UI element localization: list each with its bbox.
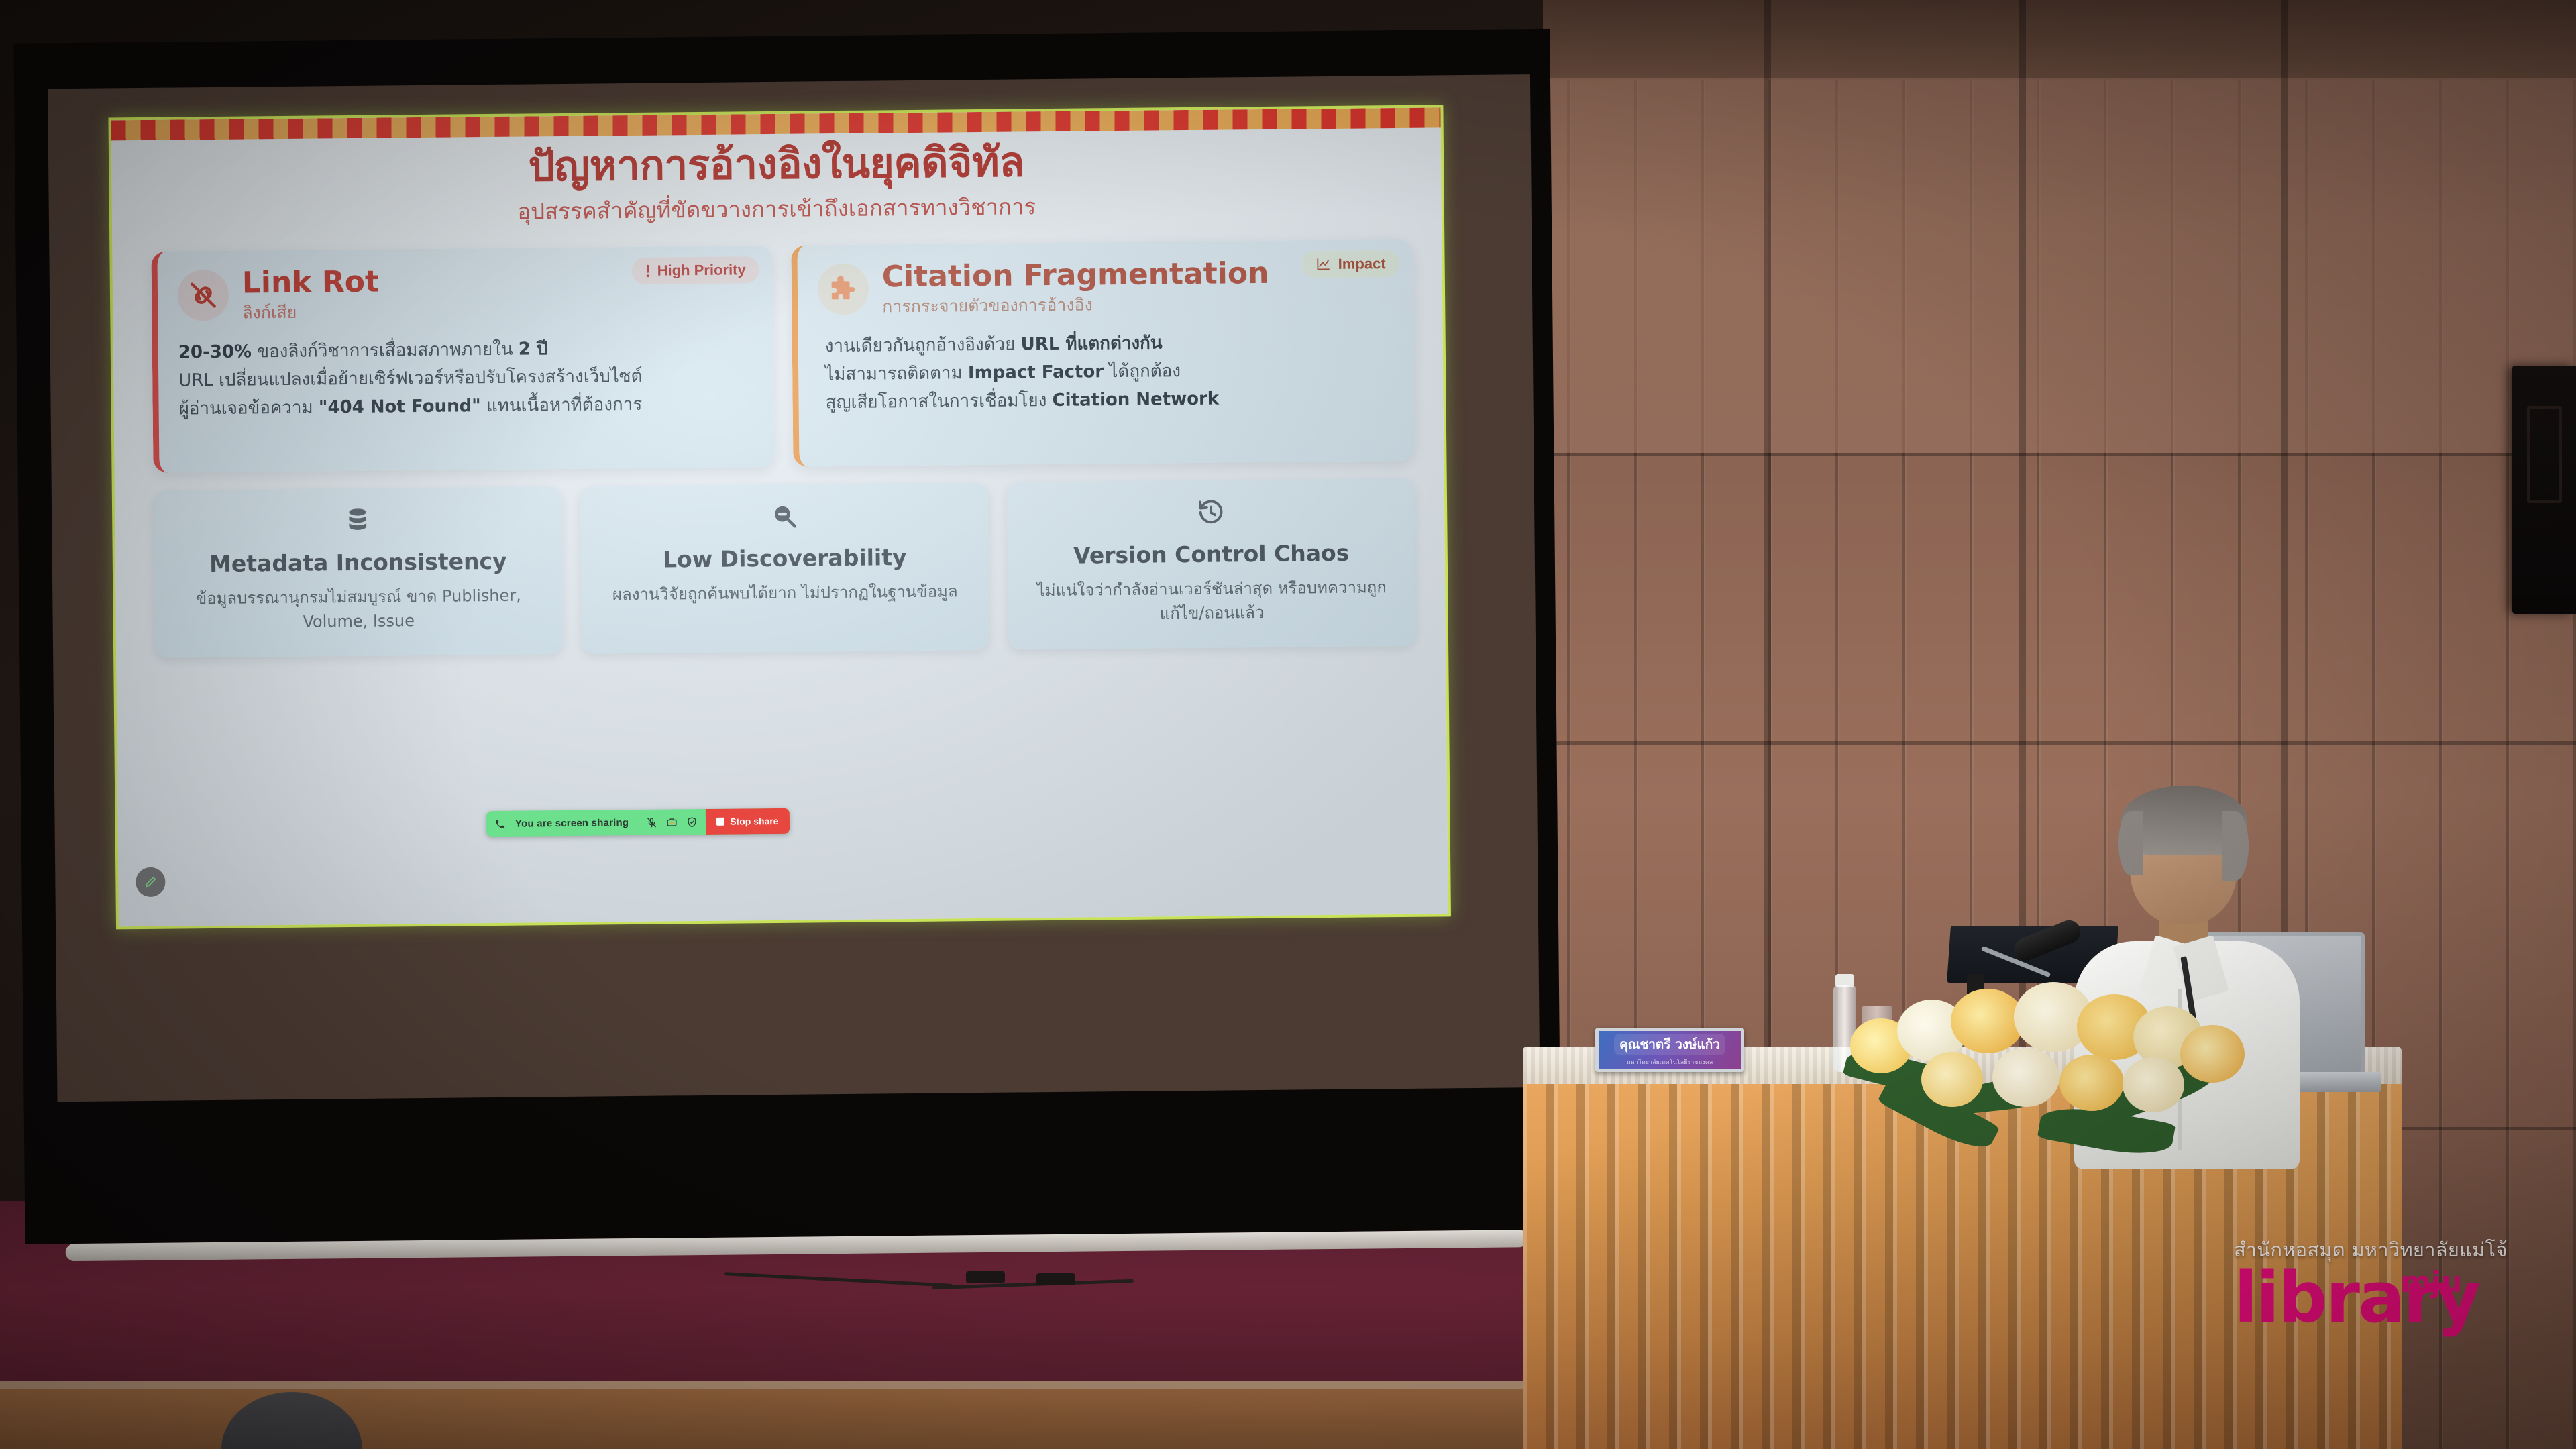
history-clock-icon bbox=[1196, 497, 1226, 530]
stop-share-button[interactable]: Stop share bbox=[706, 808, 790, 835]
body-text: ของลิงก์วิชาการเสื่อมสภาพภายใน bbox=[252, 339, 519, 362]
mic-muted-icon[interactable] bbox=[646, 816, 657, 828]
card-subtitle-thai: ลิงก์เสีย bbox=[242, 302, 379, 323]
wall-upper-tint bbox=[1503, 0, 2576, 80]
body-bold: Citation Network bbox=[1052, 389, 1219, 411]
status-badge-high-priority: High Priority bbox=[631, 256, 759, 284]
card-citation-fragmentation[interactable]: Impact Citation Fragmentation การกระจายต… bbox=[791, 239, 1414, 467]
card-heading-text: Citation Fragmentation การกระจายตัวของกา… bbox=[882, 258, 1269, 317]
stop-share-label: Stop share bbox=[730, 816, 779, 827]
body-text: งานเดียวกันถูกอ้างอิงด้วย bbox=[825, 335, 1021, 357]
floor-cable-connector bbox=[1036, 1273, 1075, 1285]
wall-mounted-display bbox=[2512, 366, 2576, 614]
body-bold: URL ที่แตกต่างกัน bbox=[1021, 333, 1163, 355]
database-icon bbox=[343, 506, 372, 539]
card-title: Version Control Chaos bbox=[1073, 540, 1350, 569]
top-card-row: High Priority Link Ro bbox=[151, 239, 1414, 473]
body-text: ไม่สามารถติดตาม bbox=[825, 363, 968, 384]
card-metadata-inconsistency[interactable]: Metadata Inconsistency ข้อมูลบรรณานุกรมไ… bbox=[154, 486, 563, 658]
card-link-rot[interactable]: High Priority Link Ro bbox=[151, 246, 774, 473]
stop-square-icon bbox=[716, 818, 724, 826]
flower-arrangement bbox=[1838, 939, 2267, 1167]
wall-seam bbox=[1503, 453, 2576, 456]
error-code-quote: "404 Not Found" bbox=[319, 396, 481, 418]
flower-bloom bbox=[1921, 1052, 1983, 1107]
slide-canvas: ปัญหาการอ้างอิงในยุคดิจิทัล อุปสรรคสำคัญ… bbox=[111, 107, 1448, 926]
flower-bloom bbox=[2180, 1025, 2245, 1083]
share-status-group: You are screen sharing bbox=[486, 810, 639, 837]
conference-room-scene: ปัญหาการอ้างอิงในยุคดิจิทัล อุปสรรคสำคัญ… bbox=[0, 0, 2576, 1449]
card-description: ผลงานวิจัยถูกค้นพบได้ยาก ไม่ปรากฏในฐานข้… bbox=[612, 579, 958, 606]
link-slash-icon bbox=[178, 270, 229, 321]
card-title: Link Rot bbox=[242, 267, 380, 299]
pencil-icon bbox=[143, 875, 158, 890]
body-text: สูญเสียโอกาสในการเชื่อมโยง bbox=[825, 390, 1052, 413]
speaker-nameplate: คุณชาตรี วงษ์แก้ว มหาวิทยาลัยเทคโนโลยีรา… bbox=[1595, 1028, 1744, 1072]
slide-title: ปัญหาการอ้างอิงในยุคดิจิทัล bbox=[111, 136, 1442, 192]
slide-subtitle: อุปสรรคสำคัญที่ขัดขวางการเข้าถึงเอกสารทา… bbox=[112, 184, 1442, 233]
display-bezel-detail bbox=[2527, 406, 2562, 503]
camera-icon[interactable] bbox=[666, 816, 678, 828]
card-description: ไม่แน่ใจว่ากำลังอ่านเวอร์ชันล่าสุด หรือบ… bbox=[1024, 575, 1400, 627]
card-title: Citation Fragmentation bbox=[882, 258, 1269, 293]
stat-percentage: 20-30% bbox=[178, 342, 252, 363]
wall-seam bbox=[1503, 741, 2576, 745]
library-logo: สำนักหอสมุด มหาวิทยาลัยแม่โจ้ library mj… bbox=[2234, 1234, 2529, 1362]
exclamation-icon bbox=[645, 264, 651, 278]
card-heading-text: Link Rot ลิงก์เสีย bbox=[242, 267, 380, 323]
wall-light-band bbox=[1503, 78, 2576, 453]
floor-cable-connector bbox=[966, 1271, 1005, 1283]
body-text: แทนเนื้อหาที่ต้องการ bbox=[481, 394, 643, 416]
body-text: ผู้อ่านเจอข้อความ bbox=[178, 398, 319, 419]
body-line-3: ผู้อ่านเจอข้อความ "404 Not Found" แทนเนื… bbox=[178, 390, 753, 423]
card-subtitle-thai: การกระจายตัวของการอ้างอิง bbox=[882, 293, 1269, 317]
card-version-control-chaos[interactable]: Version Control Chaos ไม่แน่ใจว่ากำลังอ่… bbox=[1007, 478, 1416, 650]
edit-fab-button[interactable] bbox=[136, 867, 165, 897]
nameplate-name: คุณชาตรี วงษ์แก้ว bbox=[1614, 1034, 1725, 1055]
speaker-hair-side-right bbox=[2222, 811, 2249, 881]
badge-label: High Priority bbox=[657, 261, 746, 279]
body-text: ได้ถูกต้อง bbox=[1104, 361, 1181, 382]
logo-mju-superscript: mju bbox=[2400, 1268, 2462, 1297]
phone-icon bbox=[494, 818, 506, 829]
card-body: งานเดียวกันถูกอ้างอิงด้วย URL ที่แตกต่าง… bbox=[818, 327, 1394, 417]
card-title: Metadata Inconsistency bbox=[209, 548, 507, 577]
card-title: Low Discoverability bbox=[663, 544, 907, 572]
card-low-discoverability[interactable]: Low Discoverability ผลงานวิจัยถูกค้นพบได… bbox=[580, 482, 989, 654]
slide-header: ปัญหาการอ้างอิงในยุคดิจิทัล อุปสรรคสำคัญ… bbox=[111, 136, 1442, 233]
card-description: ข้อมูลบรรณานุกรมไม่สมบูรณ์ ขาด Publisher… bbox=[170, 583, 547, 635]
speaker-hair-side-left bbox=[2118, 811, 2143, 875]
card-body: 20-30% ของลิงก์วิชาการเสื่อมสภาพภายใน 2 … bbox=[178, 333, 754, 423]
flower-bloom bbox=[2123, 1057, 2184, 1112]
share-status-text: You are screen sharing bbox=[515, 817, 629, 830]
status-badge-impact: Impact bbox=[1302, 250, 1399, 278]
magnifier-minus-icon bbox=[769, 502, 799, 535]
flower-bloom bbox=[2059, 1055, 2124, 1111]
nameplate-org: มหาวิทยาลัยเทคโนโลยีราชมงคล bbox=[1627, 1057, 1713, 1067]
badge-label: Impact bbox=[1338, 255, 1386, 273]
projected-slide-glow-border: ปัญหาการอ้างอิงในยุคดิจิทัล อุปสรรคสำคัญ… bbox=[108, 105, 1451, 929]
body-line-3: สูญเสียโอกาสในการเชื่อมโยง Citation Netw… bbox=[825, 383, 1393, 417]
logo-wordmark: library mju bbox=[2234, 1263, 2529, 1332]
puzzle-piece-icon bbox=[818, 264, 869, 315]
stat-years: 2 ปี bbox=[519, 339, 548, 359]
flower-bloom bbox=[1992, 1048, 2059, 1107]
shield-icon[interactable] bbox=[686, 816, 698, 828]
line-chart-icon bbox=[1316, 257, 1332, 272]
body-bold: Impact Factor bbox=[968, 362, 1104, 384]
screen-share-banner: You are screen sharing Stop share bbox=[486, 808, 790, 837]
bottom-card-row: Metadata Inconsistency ข้อมูลบรรณานุกรมไ… bbox=[154, 478, 1416, 658]
projection-screen: ปัญหาการอ้างอิงในยุคดิจิทัล อุปสรรคสำคัญ… bbox=[0, 2, 1581, 1244]
share-control-icons bbox=[638, 816, 706, 828]
